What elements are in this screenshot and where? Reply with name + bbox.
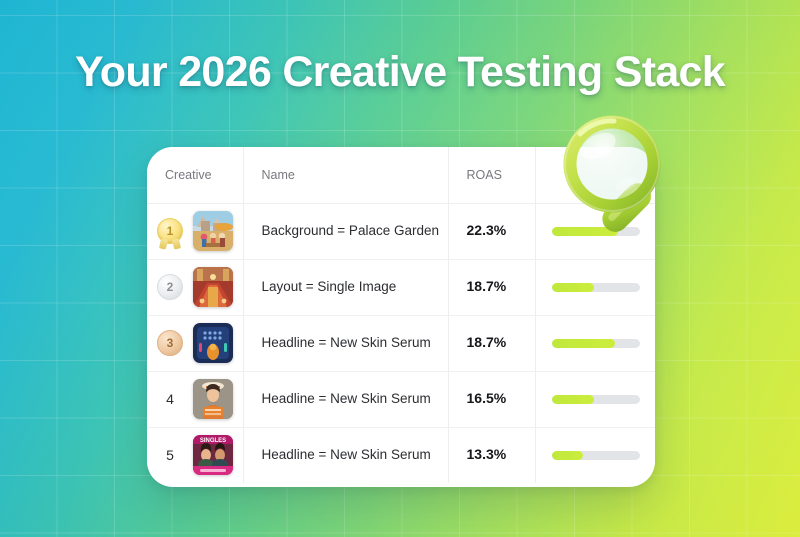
score-bar-fill	[552, 227, 618, 236]
svg-text:SINGLES: SINGLES	[200, 438, 226, 444]
score-bar-fill	[552, 283, 594, 292]
score-bar-track	[552, 451, 640, 460]
creative-ranking-card: Creative Name ROAS 1	[147, 147, 655, 487]
roas-value: 16.5%	[467, 390, 507, 406]
score-bar-cell	[535, 427, 655, 483]
gold-medal-icon: 1	[157, 218, 183, 244]
rank-number: 5	[166, 447, 174, 463]
name-cell: Headline = New Skin Serum	[243, 427, 448, 483]
creative-thumbnail[interactable]	[193, 379, 233, 419]
column-header-roas[interactable]: ROAS	[448, 147, 535, 203]
score-bar-fill	[552, 395, 594, 404]
column-header-score-bar[interactable]	[535, 147, 655, 203]
name-cell: Headline = New Skin Serum	[243, 371, 448, 427]
creative-name: Headline = New Skin Serum	[262, 391, 431, 406]
score-bar-cell	[535, 315, 655, 371]
rank-number: 3	[167, 336, 174, 350]
creative-thumbnail[interactable]	[193, 323, 233, 363]
page-title: Your 2026 Creative Testing Stack	[0, 48, 800, 97]
creative-thumbnail[interactable]: SINGLES	[193, 435, 233, 475]
creative-thumbnail[interactable]	[193, 211, 233, 251]
table-header-row: Creative Name ROAS	[147, 147, 655, 203]
roas-cell: 13.3%	[448, 427, 535, 483]
creative-cell: 4	[147, 371, 243, 427]
creative-name: Background = Palace Garden	[262, 223, 440, 238]
roas-cell: 18.7%	[448, 259, 535, 315]
creative-cell: 1	[147, 203, 243, 259]
score-bar-cell	[535, 371, 655, 427]
rank-number: 2	[167, 280, 174, 294]
creative-name: Headline = New Skin Serum	[262, 335, 431, 350]
roas-cell: 18.7%	[448, 315, 535, 371]
creative-cell: 3	[147, 315, 243, 371]
score-bar-track	[552, 227, 640, 236]
score-bar-track	[552, 395, 640, 404]
score-bar-cell	[535, 203, 655, 259]
creative-name: Headline = New Skin Serum	[262, 447, 431, 462]
score-bar-fill	[552, 451, 584, 460]
roas-cell: 22.3%	[448, 203, 535, 259]
roas-cell: 16.5%	[448, 371, 535, 427]
creative-thumbnail[interactable]	[193, 267, 233, 307]
name-cell: Layout = Single Image	[243, 259, 448, 315]
creative-cell: 5 SINGLES	[147, 427, 243, 483]
name-cell: Background = Palace Garden	[243, 203, 448, 259]
table-row[interactable]: 5 SINGLES	[147, 427, 655, 483]
score-bar-track	[552, 339, 640, 348]
table-row[interactable]: 2	[147, 259, 655, 315]
creative-cell: 2	[147, 259, 243, 315]
score-bar-fill	[552, 339, 615, 348]
silver-medal-icon: 2	[157, 274, 183, 300]
bronze-medal-icon: 3	[157, 330, 183, 356]
score-bar-cell	[535, 259, 655, 315]
roas-value: 18.7%	[467, 278, 507, 294]
table-row[interactable]: 4	[147, 371, 655, 427]
column-header-name[interactable]: Name	[243, 147, 448, 203]
rank-label: 5	[157, 442, 183, 468]
rank-label: 4	[157, 386, 183, 412]
table-row[interactable]: 3	[147, 315, 655, 371]
rank-number: 4	[166, 391, 174, 407]
name-cell: Headline = New Skin Serum	[243, 315, 448, 371]
table-row[interactable]: 1	[147, 203, 655, 259]
score-bar-track	[552, 283, 640, 292]
roas-value: 18.7%	[467, 334, 507, 350]
creative-ranking-table: Creative Name ROAS 1	[147, 147, 655, 483]
column-header-creative[interactable]: Creative	[147, 147, 243, 203]
roas-value: 13.3%	[467, 446, 507, 462]
rank-number: 1	[167, 224, 174, 238]
roas-value: 22.3%	[467, 222, 507, 238]
creative-name: Layout = Single Image	[262, 279, 397, 294]
